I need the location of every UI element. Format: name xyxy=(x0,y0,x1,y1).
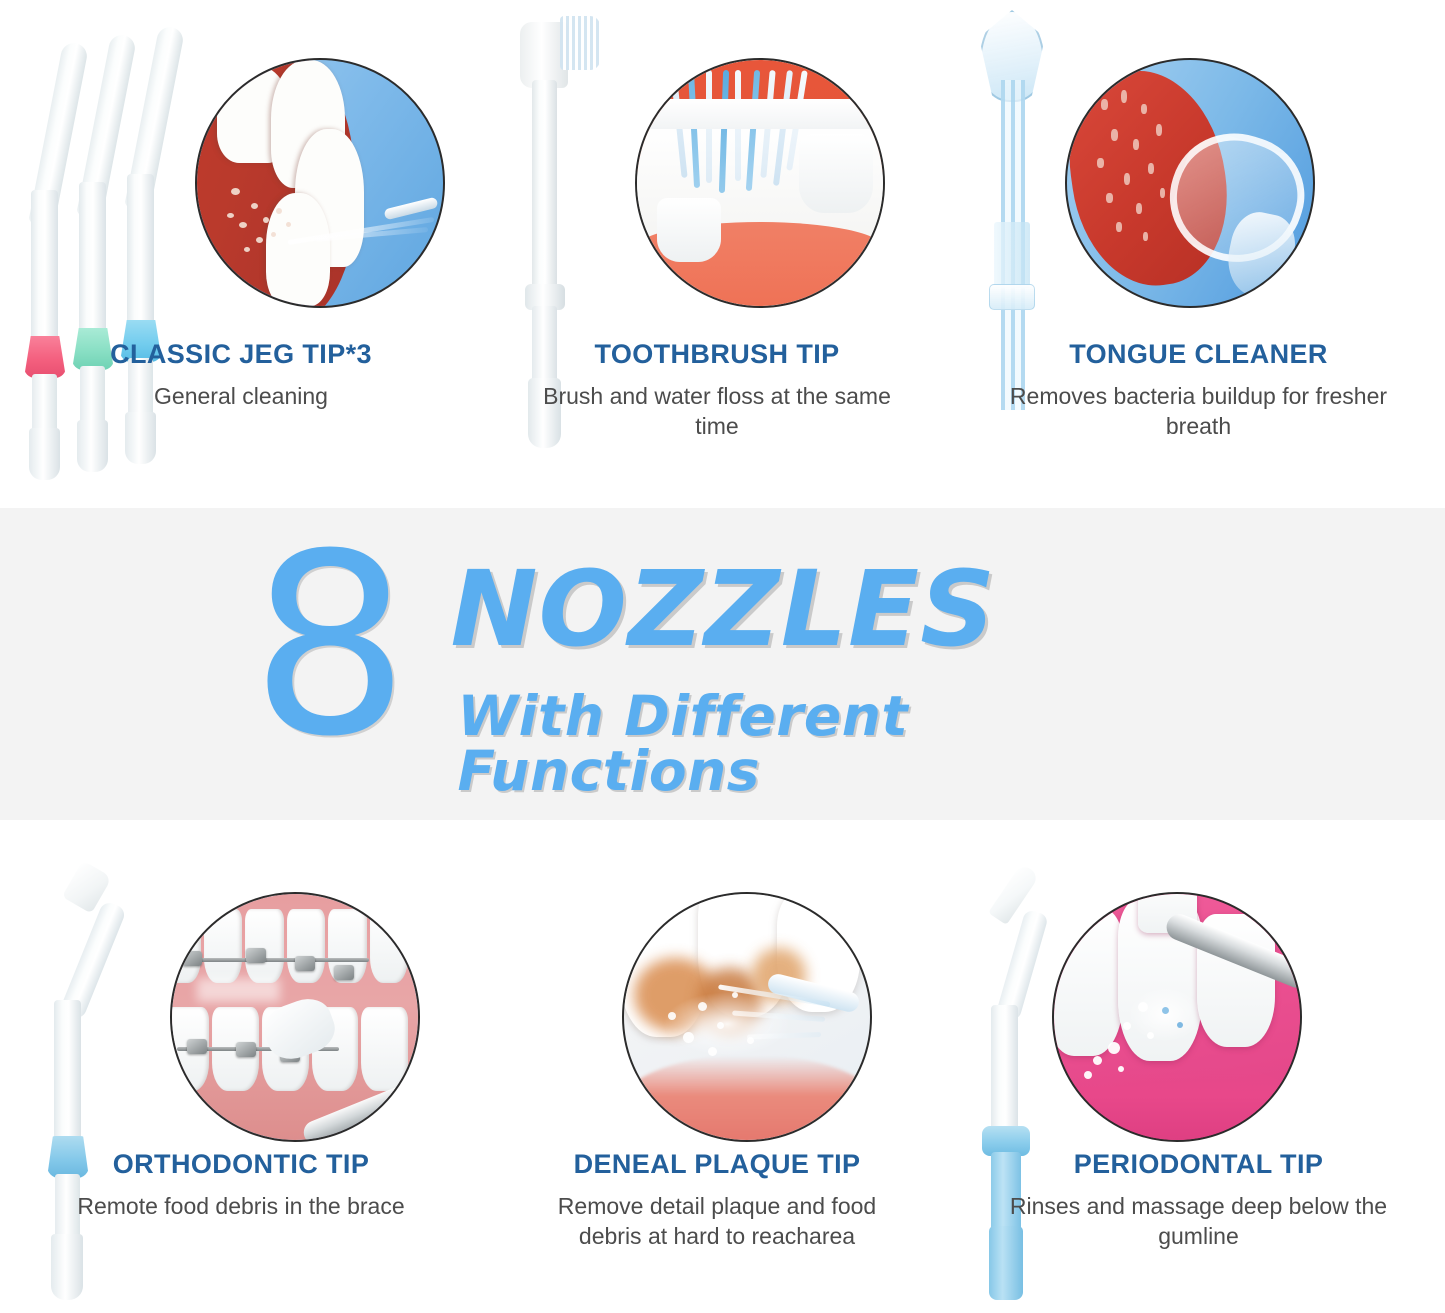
feature-card-classic-jet-tip: CLASSIC JEG TIP*3 General cleaning xyxy=(0,0,482,508)
top-feature-row: CLASSIC JEG TIP*3 General cleaning xyxy=(0,0,1445,508)
feature-title: TOOTHBRUSH TIP xyxy=(482,340,952,370)
feature-title: DENEAL PLAQUE TIP xyxy=(482,1150,952,1180)
feature-title: PERIODONTAL TIP xyxy=(952,1150,1445,1180)
feature-card-toothbrush-tip: TOOTHBRUSH TIP Brush and water floss at … xyxy=(482,0,952,508)
bottom-feature-row: ORTHODONTIC TIP Remote food debris in th… xyxy=(0,820,1445,1313)
plaque-water-spray-photo xyxy=(622,892,872,1142)
banner-number: 8 xyxy=(251,521,404,771)
feature-card-dental-plaque-tip: DENEAL PLAQUE TIP Remove detail plaque a… xyxy=(482,820,952,1313)
caption-dental-plaque-tip: DENEAL PLAQUE TIP Remove detail plaque a… xyxy=(482,1150,952,1251)
feature-description: Removes bacteria buildup for fresher bre… xyxy=(952,381,1445,442)
feature-card-periodontal-tip: PERIODONTAL TIP Rinses and massage deep … xyxy=(952,820,1445,1313)
caption-classic-jet-tip: CLASSIC JEG TIP*3 General cleaning xyxy=(0,340,482,411)
teeth-water-jet-photo xyxy=(195,58,445,308)
feature-description: Brush and water floss at the same time xyxy=(482,381,952,442)
banner-word: NOZZLES xyxy=(451,557,996,661)
feature-description: Rinses and massage deep below the gumlin… xyxy=(952,1191,1445,1252)
braces-brackets-photo xyxy=(170,892,420,1142)
gumline-probe-photo xyxy=(1052,892,1302,1142)
feature-card-tongue-cleaner: TONGUE CLEANER Removes bacteria buildup … xyxy=(952,0,1445,508)
caption-orthodontic-tip: ORTHODONTIC TIP Remote food debris in th… xyxy=(0,1150,482,1221)
nozzle-count-banner: 8 NOZZLES With Different Functions xyxy=(0,508,1445,820)
feature-title: ORTHODONTIC TIP xyxy=(0,1150,482,1180)
caption-periodontal-tip: PERIODONTAL TIP Rinses and massage deep … xyxy=(952,1150,1445,1251)
feature-description: Remove detail plaque and food debris at … xyxy=(482,1191,952,1252)
feature-description: Remote food debris in the brace xyxy=(0,1191,482,1221)
banner-subtitle: With Different Functions xyxy=(458,689,1203,799)
feature-card-orthodontic-tip: ORTHODONTIC TIP Remote food debris in th… xyxy=(0,820,482,1313)
caption-toothbrush-tip: TOOTHBRUSH TIP Brush and water floss at … xyxy=(482,340,952,441)
feature-description: General cleaning xyxy=(0,381,482,411)
product-feature-infographic: CLASSIC JEG TIP*3 General cleaning xyxy=(0,0,1445,1313)
tongue-scraper-photo xyxy=(1065,58,1315,308)
orthodontic-tip-nozzle xyxy=(42,860,112,1310)
bristles-on-teeth-photo xyxy=(635,58,885,308)
feature-title: TONGUE CLEANER xyxy=(952,340,1445,370)
caption-tongue-cleaner: TONGUE CLEANER Removes bacteria buildup … xyxy=(952,340,1445,441)
feature-title: CLASSIC JEG TIP*3 xyxy=(0,340,482,370)
